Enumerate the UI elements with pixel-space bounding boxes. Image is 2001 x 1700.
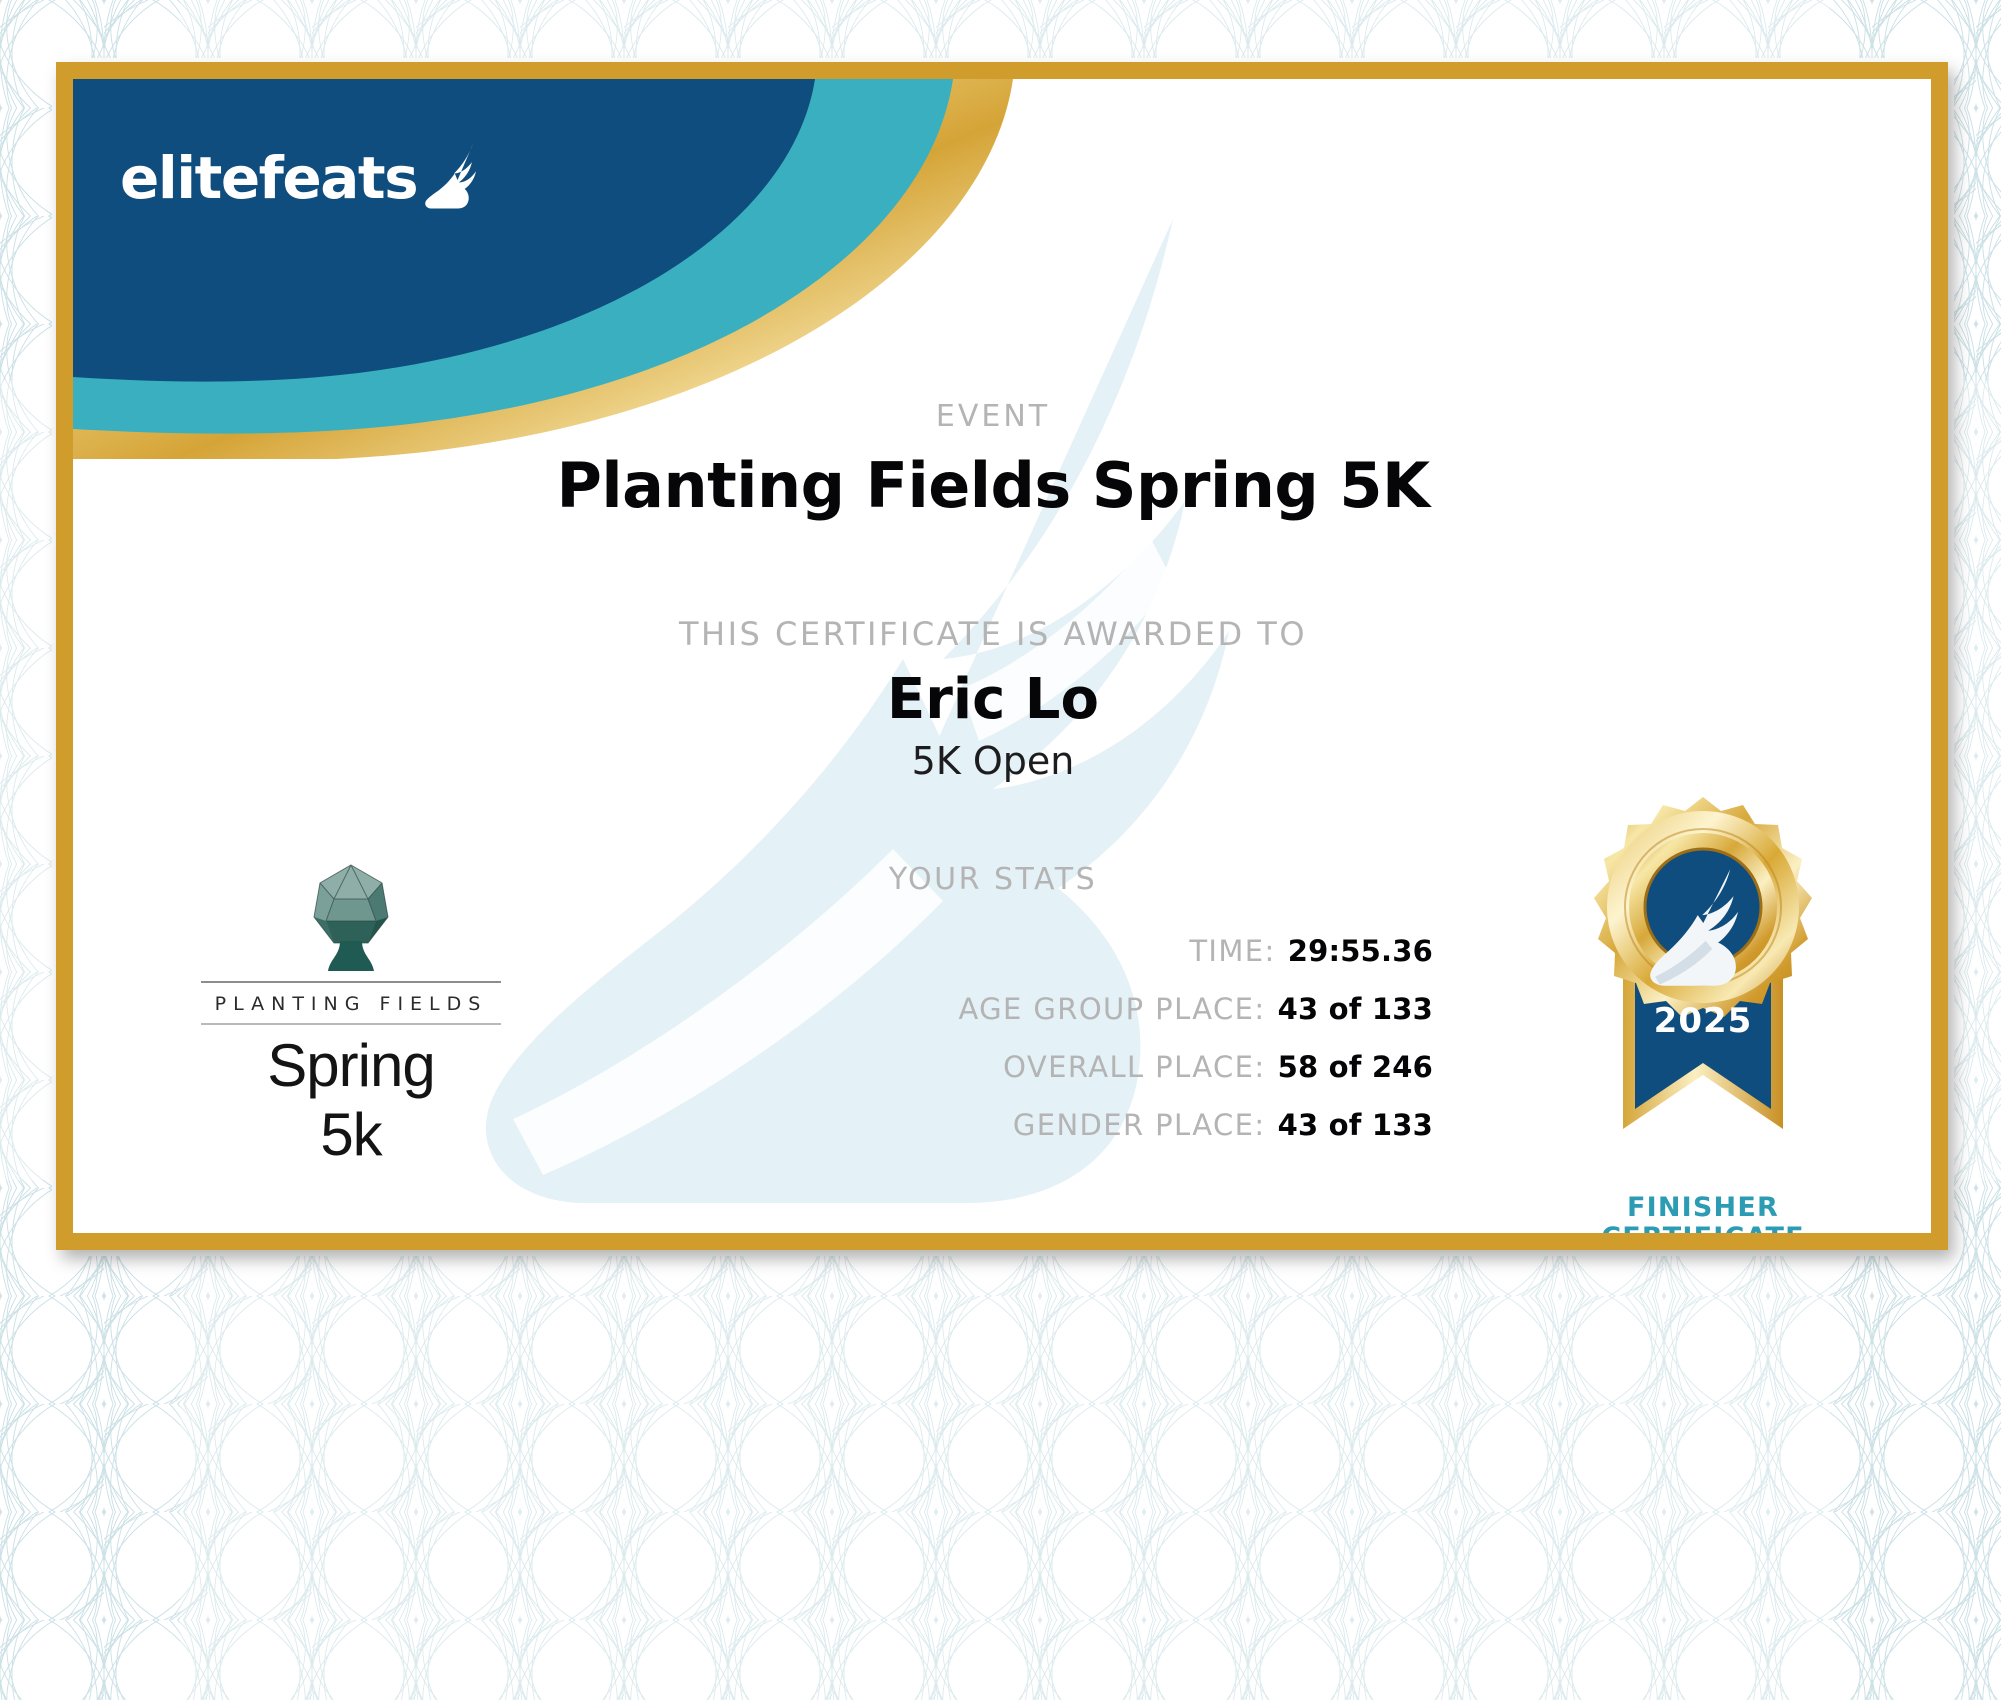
stat-row: TIME: 29:55.36 [373,934,1433,992]
recipient-name: Eric Lo [403,667,1583,732]
event-title: Planting Fields Spring 5K [363,449,1623,522]
medal-year: 2025 [1654,1001,1753,1041]
stat-key: OVERALL PLACE: [1003,1050,1265,1084]
stats-list: TIME: 29:55.36 AGE GROUP PLACE: 43 of 13… [373,934,1433,1166]
recipient-division: 5K Open [403,739,1583,783]
stat-key: TIME: [1189,934,1275,968]
event-label: EVENT [463,399,1523,434]
medal-caption: FINISHER CERTIFICATE [1563,1193,1843,1233]
stat-value: 43 of 133 [1278,1108,1433,1142]
awarded-to-label: THIS CERTIFICATE IS AWARDED TO [403,615,1583,653]
your-stats-label: YOUR STATS [403,862,1583,897]
medal-graphic: 2025 [1563,789,1843,1199]
stat-key: AGE GROUP PLACE: [958,992,1265,1026]
geodesic-dome-icon [296,859,406,979]
finisher-medal-badge: 2025 FINISHER CERTIFICATE [1563,789,1843,1233]
winged-foot-icon [421,141,487,211]
stat-value: 58 of 246 [1278,1050,1433,1084]
race-logo-name: PLANTING FIELDS [201,983,501,1023]
certificate-card: elitefeats EVENT Planting [56,62,1948,1250]
stat-row: AGE GROUP PLACE: 43 of 133 [373,992,1433,1050]
medal-caption-line2: CERTIFICATE [1563,1223,1843,1233]
stat-value: 43 of 133 [1278,992,1433,1026]
planting-fields-race-logo: PLANTING FIELDS Spring 5k [201,859,501,1169]
stat-key: GENDER PLACE: [1013,1108,1266,1142]
stat-value: 29:55.36 [1288,934,1433,968]
elitefeats-logo: elitefeats [120,141,487,207]
medal-caption-line1: FINISHER [1563,1193,1843,1223]
race-logo-distance: 5k [201,1100,501,1169]
brand-wordmark: elitefeats [120,149,417,207]
stat-row: OVERALL PLACE: 58 of 246 [373,1050,1433,1108]
race-logo-season: Spring [201,1025,501,1100]
stat-row: GENDER PLACE: 43 of 133 [373,1108,1433,1166]
